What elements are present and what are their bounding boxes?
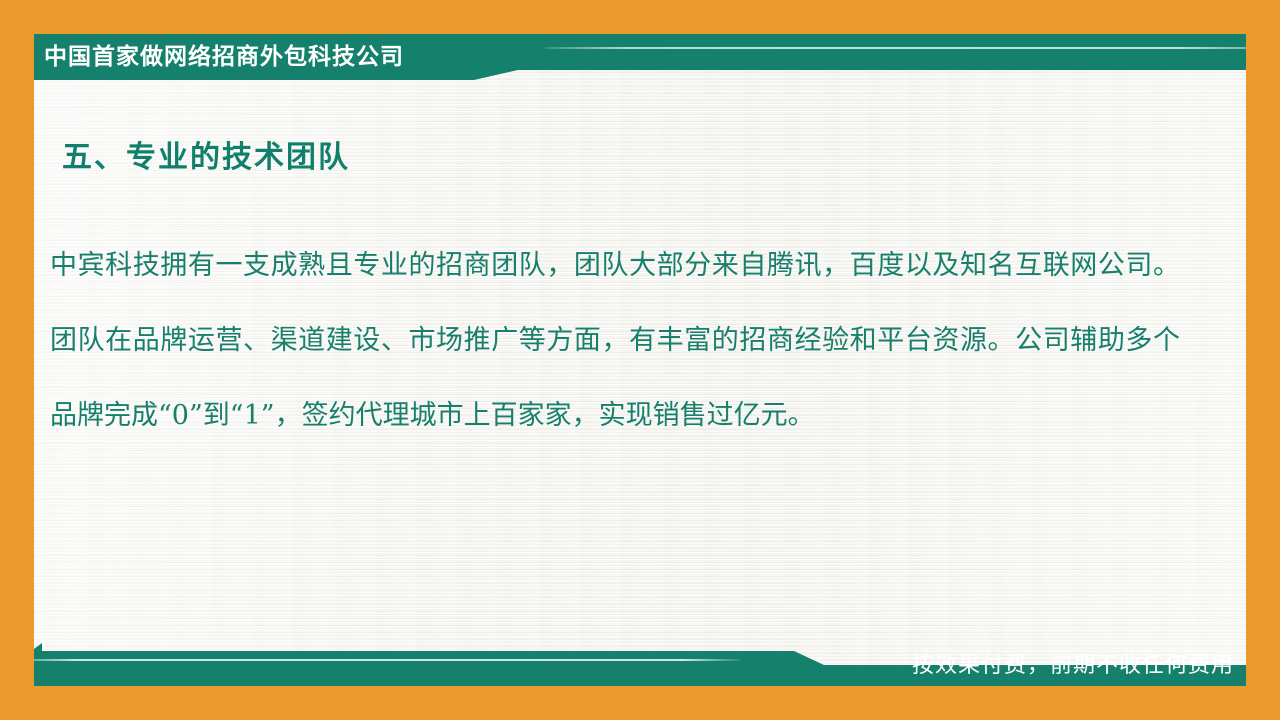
body-text-block: 中宾科技拥有一支成熟且专业的招商团队，团队大部分来自腾讯，百度以及知名互联网公司… <box>50 228 1180 453</box>
footer-accent-line <box>34 659 740 661</box>
header-title: 中国首家做网络招商外包科技公司 <box>44 34 404 80</box>
slide-canvas: 中国首家做网络招商外包科技公司 五、专业的技术团队 中宾科技拥有一支成熟且专业的… <box>0 0 1280 720</box>
body-paragraph: 中宾科技拥有一支成熟且专业的招商团队，团队大部分来自腾讯，百度以及知名互联网公司… <box>50 228 1180 453</box>
section-heading: 五、专业的技术团队 <box>62 132 350 176</box>
header-accent-line <box>545 47 1246 49</box>
footer-slogan: 按效果付费，前期不收任何费用 <box>912 645 1234 686</box>
